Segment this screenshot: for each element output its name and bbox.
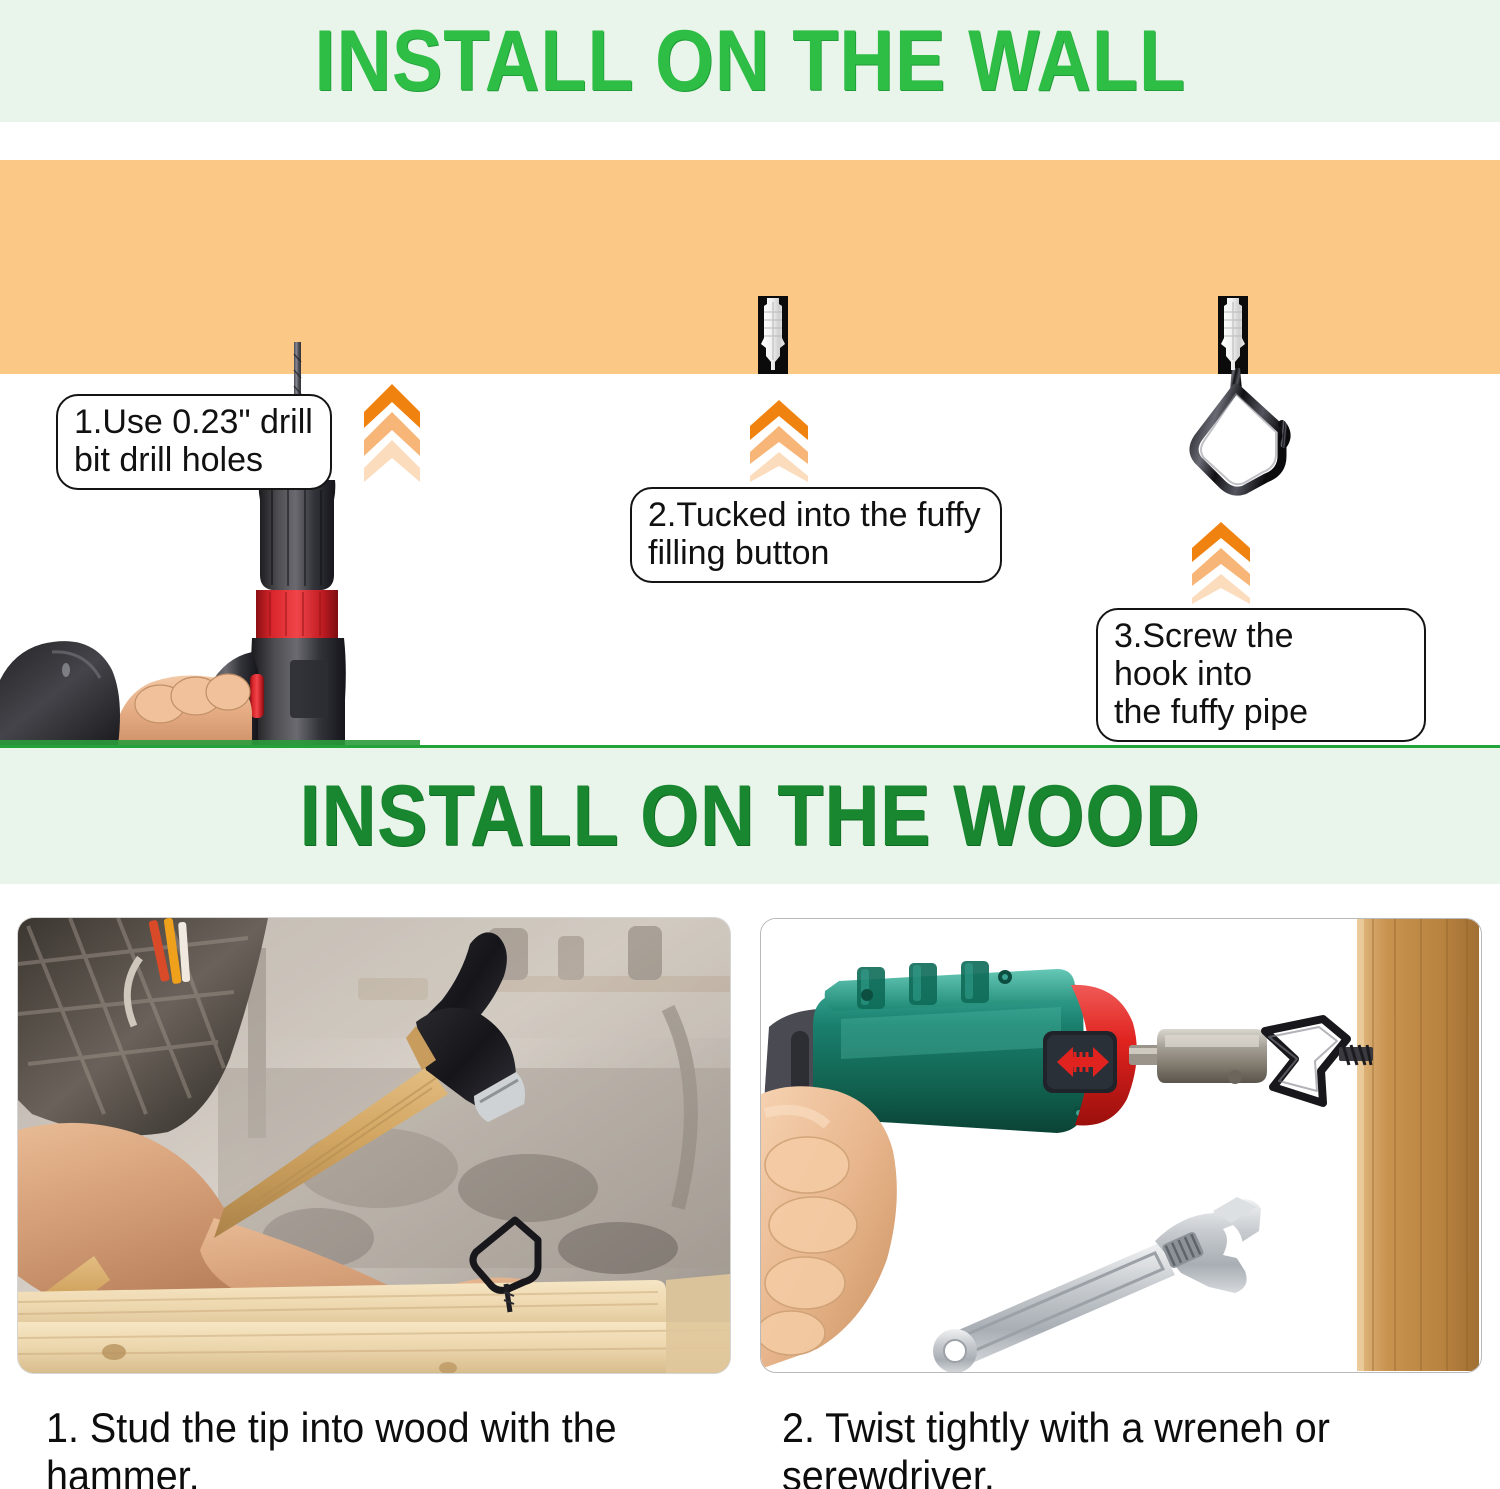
chevron-stack-step1 [362,382,422,482]
power-drill-into-post-icon [761,919,1479,1371]
photo-drill-wood-step [760,918,1482,1373]
swing-hanger-hook-icon [1186,368,1306,503]
photo-hammer-step [18,918,730,1373]
callout-step1: 1.Use 0.23" drill bit drill holes [56,394,332,490]
section-title-wood: INSTALL ON THE WOOD [299,773,1200,859]
instruction-graphic-page: INSTALL ON THE WALL [0,0,1500,1489]
section-title-wall: INSTALL ON THE WALL [314,18,1186,104]
chevron-up-icon [1190,520,1252,604]
chevron-up-icon [748,398,810,482]
section-header-wood: INSTALL ON THE WOOD [0,745,1500,884]
wall-plug-anchor-icon [1220,298,1246,370]
caption-wood-step2: 2. Twist tightly with a wreneh or serewd… [782,1404,1440,1489]
callout-step2: 2.Tucked into the fuffy filling button [630,487,1002,583]
claw-hammer-icon [18,918,730,1373]
chevron-stack-step3 [1190,520,1252,604]
chevron-stack-step2 [748,398,810,482]
caption-wood-step1: 1. Stud the tip into wood with the hamme… [46,1404,704,1489]
chevron-up-icon [362,382,422,482]
wall-plug-anchor-icon [760,298,786,370]
section-header-wall: INSTALL ON THE WALL [0,0,1500,122]
callout-step3: 3.Screw the hook into the fuffy pipe [1096,608,1426,742]
